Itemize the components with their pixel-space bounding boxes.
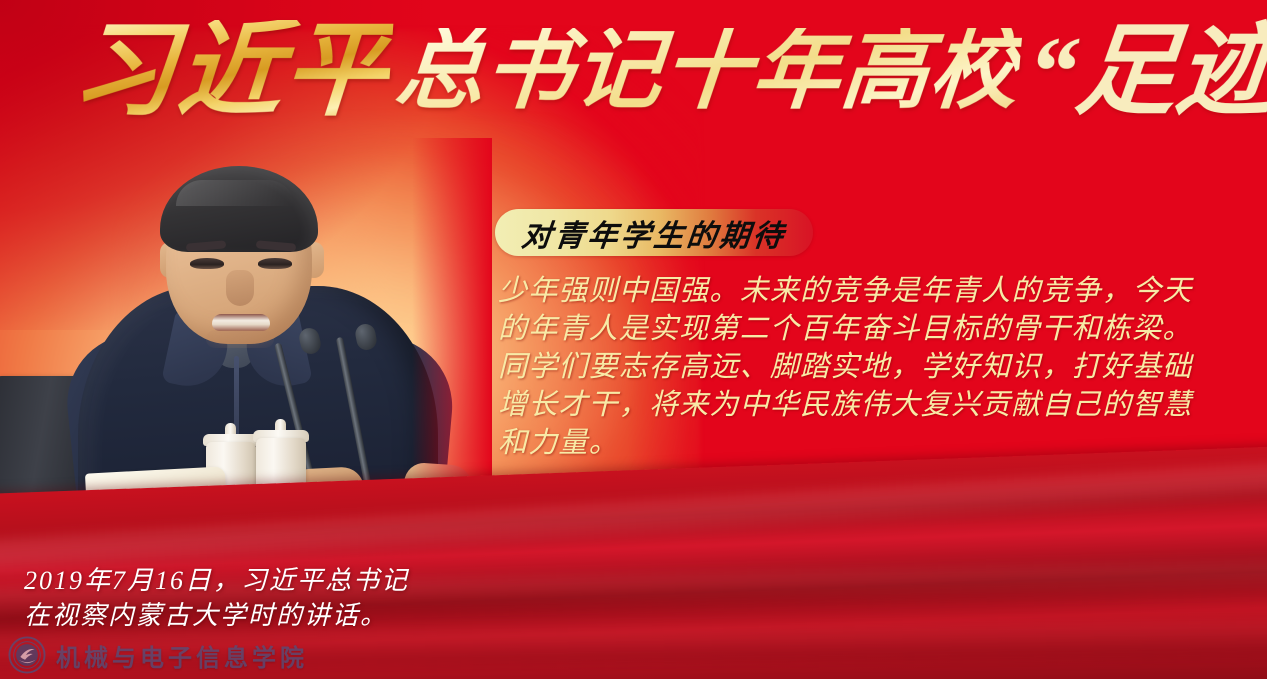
photo-chin bbox=[206, 330, 274, 348]
title-quoted-segment: “足迹” bbox=[1022, 22, 1267, 122]
photo-nose bbox=[226, 270, 254, 306]
photo-mouth bbox=[212, 314, 270, 331]
title-middle-segment: 总书记十年高校 bbox=[392, 28, 1023, 116]
quote-text: 少年强则中国强。未来的竞争是年青人的竞争，今天 的年青人是实现第二个百年奋斗目标… bbox=[498, 272, 1258, 462]
quote-line: 的年青人是实现第二个百年奋斗目标的骨干和栋梁。 bbox=[498, 310, 1258, 348]
caption-line: 在视察内蒙古大学时的讲话。 bbox=[24, 598, 409, 633]
caption-line: 2019年7月16日，习近平总书记 bbox=[24, 563, 409, 598]
poster-canvas: 习近平 总书记十年高校 “足迹” bbox=[0, 0, 1267, 679]
photo-eye-right bbox=[258, 258, 292, 269]
title-name-segment: 习近平 bbox=[68, 20, 393, 124]
watermark: 机械与电子信息学院 bbox=[8, 636, 308, 674]
watermark-organization: 机械与电子信息学院 bbox=[56, 638, 308, 673]
photo-caption: 2019年7月16日，习近平总书记 在视察内蒙古大学时的讲话。 bbox=[24, 563, 409, 633]
photo-eye-left bbox=[190, 258, 224, 269]
quote-line: 增长才干，将来为中华民族伟大复兴贡献自己的智慧 bbox=[498, 386, 1258, 424]
poster-title: 习近平 总书记十年高校 “足迹” bbox=[72, 6, 1232, 138]
section-badge-label: 对青年学生的期待 bbox=[520, 211, 789, 255]
section-badge: 对青年学生的期待 bbox=[495, 209, 813, 256]
photo-hair bbox=[160, 166, 318, 252]
quote-line: 同学们要志存高远、脚踏实地，学好知识，打好基础 bbox=[498, 348, 1258, 386]
quote-line: 少年强则中国强。未来的竞争是年青人的竞争，今天 bbox=[498, 272, 1258, 310]
school-emblem-icon bbox=[8, 636, 46, 674]
